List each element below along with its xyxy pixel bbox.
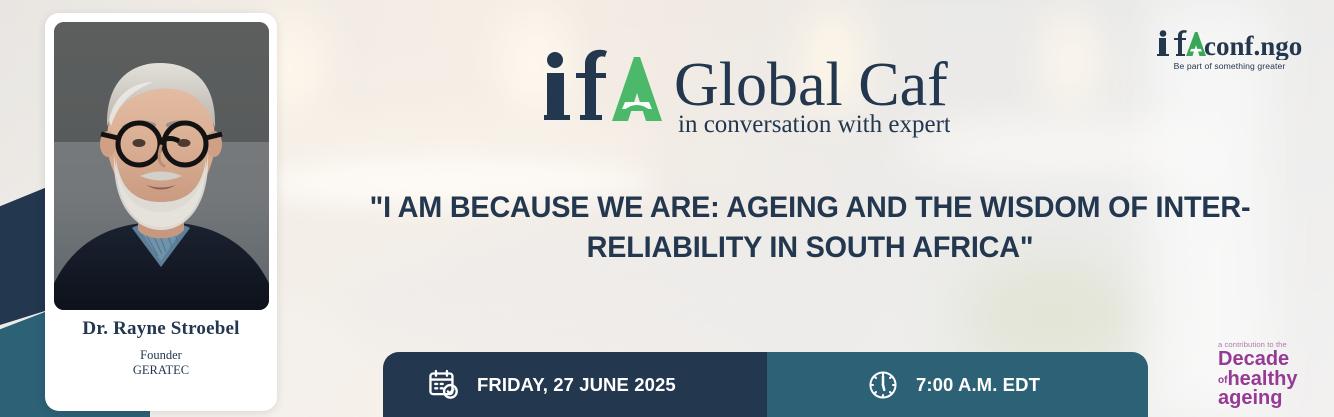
event-info-bar: FRIDAY, 27 JUNE 2025 7:00 A.M. EDT xyxy=(383,352,1148,417)
speaker-role-title: Founder xyxy=(140,348,182,362)
calendar-check-icon xyxy=(427,368,460,401)
event-time-text: 7:00 A.M. EDT xyxy=(916,374,1040,396)
ifa-global-cafe-logo: Global Café in conversation with experts xyxy=(540,33,950,143)
logo-subtitle: in conversation with experts xyxy=(678,111,950,138)
speaker-photo xyxy=(54,22,269,310)
ifaconf-logo[interactable]: conf.ngo Be part of something greater xyxy=(1152,28,1307,80)
logo-title: Global Café xyxy=(674,51,950,119)
speaker-role: Founder GERATEC xyxy=(45,348,277,378)
ifaconf-tagline: Be part of something greater xyxy=(1152,61,1307,71)
decade-healthy-ageing-badge: a contribution to the Decade ofhealthy a… xyxy=(1218,341,1330,408)
svg-text:conf.ngo: conf.ngo xyxy=(1204,31,1302,60)
speaker-organization: GERATEC xyxy=(133,363,189,377)
event-date-section: FRIDAY, 27 JUNE 2025 xyxy=(383,352,767,417)
speaker-card: Dr. Rayne Stroebel Founder GERATEC xyxy=(45,13,277,411)
event-date-text: FRIDAY, 27 JUNE 2025 xyxy=(477,374,676,396)
page-title: "I AM BECAUSE WE ARE: AGEING AND THE WIS… xyxy=(349,188,1271,267)
ifa-logo-icon xyxy=(544,50,662,121)
speaker-meta: Dr. Rayne Stroebel Founder GERATEC xyxy=(45,318,277,378)
event-time-section: 7:00 A.M. EDT xyxy=(767,352,1148,417)
clock-icon xyxy=(867,369,899,401)
ifaconf-wordmark: conf.ngo xyxy=(1152,28,1307,60)
decade-badge-line3: ageing xyxy=(1218,389,1330,409)
decade-badge-line2: ofhealthy xyxy=(1218,370,1330,389)
webinar-banner: Dr. Rayne Stroebel Founder GERATEC Globa… xyxy=(0,0,1334,417)
speaker-name: Dr. Rayne Stroebel xyxy=(45,318,277,340)
